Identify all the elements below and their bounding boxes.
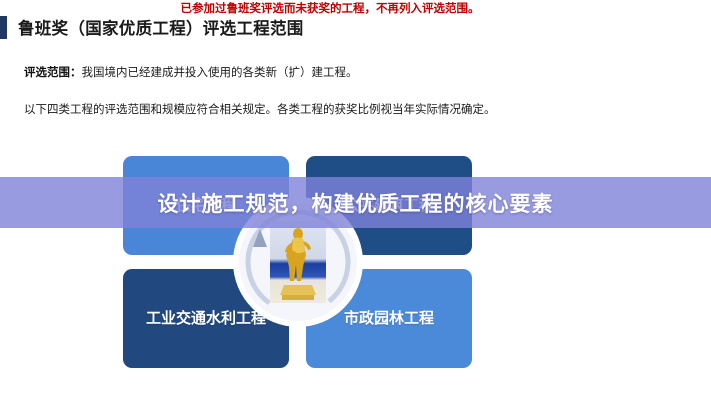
scope-paragraph: 评选范围：我国境内已经建成并投入使用的各类新（扩）建工程。: [24, 64, 358, 80]
scope-body-label: 我国境内已经建成并投入使用的各类新（扩）建工程。: [82, 65, 358, 79]
title-label: 鲁班奖（国家优质工程）评选工程范围: [18, 15, 304, 39]
caption-overlay-band: 设计施工规范，构建优质工程的核心要素: [0, 177, 711, 228]
title-accent-bar: [0, 16, 7, 39]
slide-canvas: 鲁班奖（国家优质工程）评选工程范围 评选范围：我国境内已经建成并投入使用的各类新…: [0, 0, 711, 400]
scope-lead-label: 评选范围：: [24, 65, 82, 79]
caption-label: 设计施工规范，构建优质工程的核心要素: [158, 188, 554, 218]
category-label: 市政园林工程: [344, 308, 434, 328]
golden-trophy-statue: [270, 221, 326, 303]
page-title: 鲁班奖（国家优质工程）评选工程范围: [0, 14, 304, 40]
rule-paragraph: 以下四类工程的评选范围和规模应符合相关规定。各类工程的获奖比例视当年实际情况确定…: [24, 101, 496, 117]
trophy-figure-icon: [270, 221, 326, 303]
